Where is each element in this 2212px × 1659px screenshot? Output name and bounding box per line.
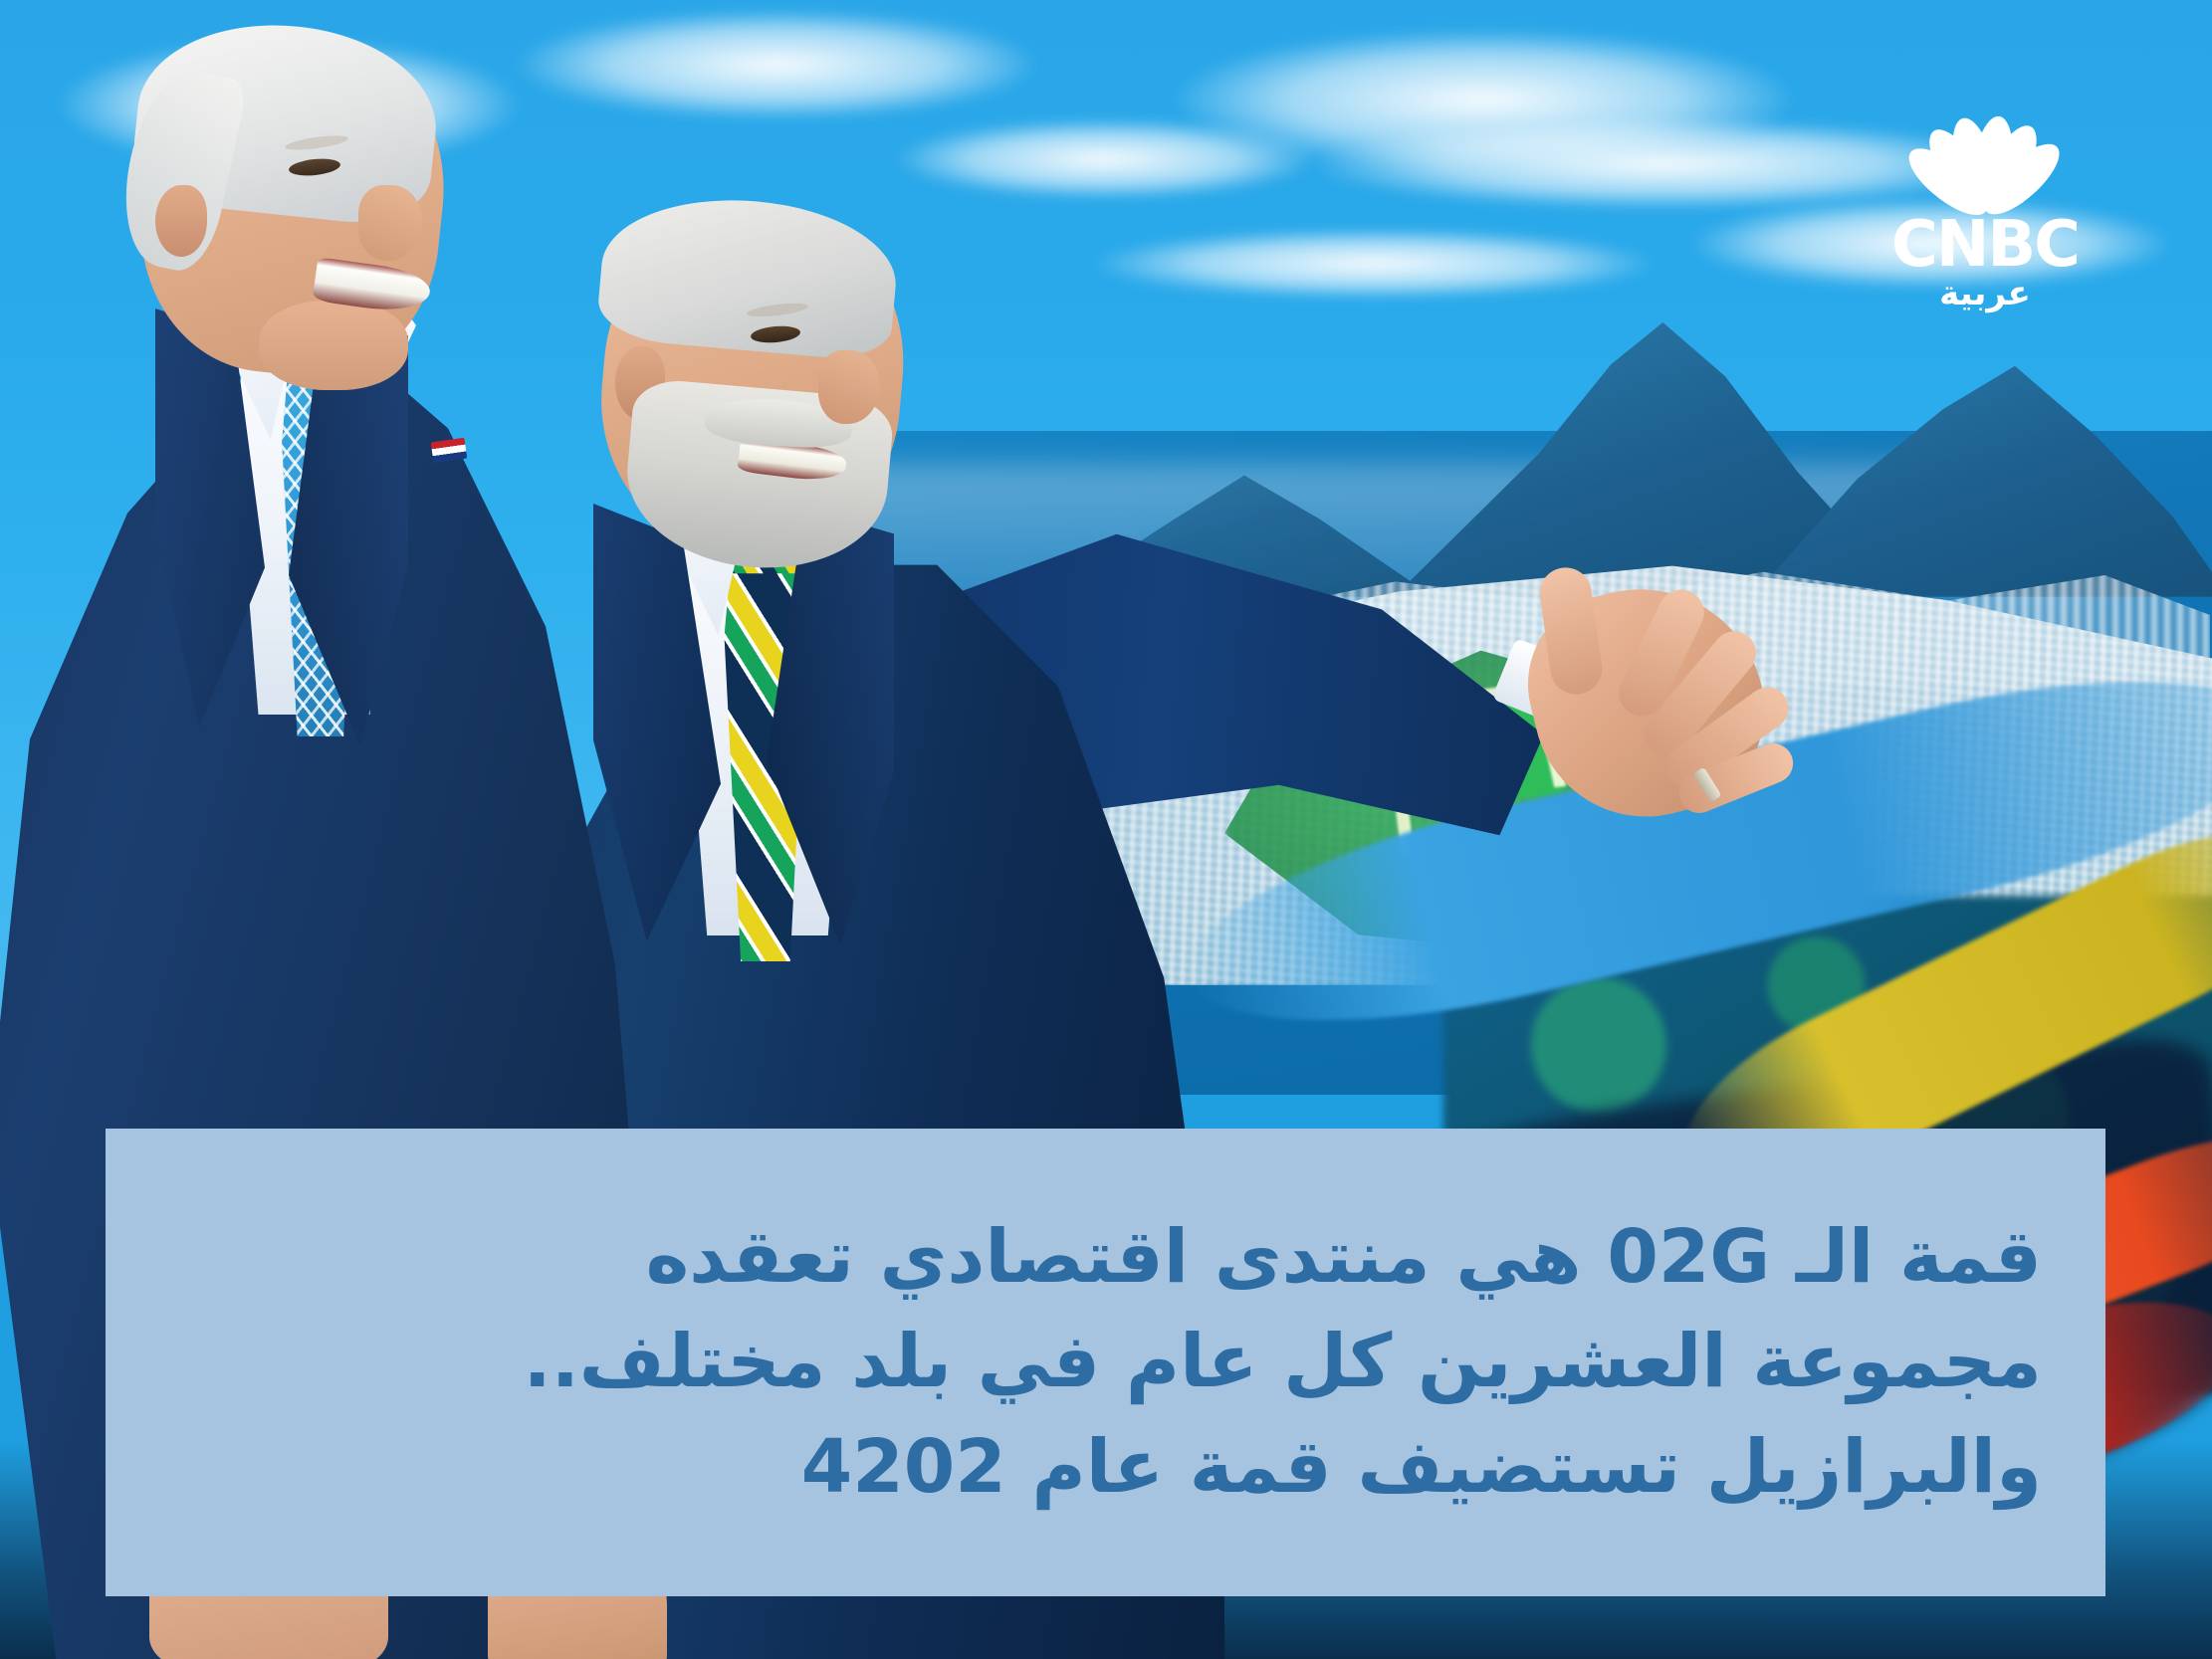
cnbc-arabic-wordmark: عربية	[1870, 277, 2101, 311]
caption-line-3: والبرازيل تستضيف قمة عام 2024	[169, 1415, 2042, 1520]
caption-bar: قمة الـ G20 هي منتدى اقتصادي تعقده مجموع…	[106, 1129, 2105, 1596]
cnbc-arabia-logo: CNBC عربية	[1870, 105, 2101, 316]
cnbc-wordmark: CNBC	[1870, 213, 2101, 277]
caption-line-2: مجموعة العشرين كل عام في بلد مختلف..	[169, 1310, 2042, 1414]
news-graphic-canvas: CNBC عربية قمة الـ G20 هي منتدى اقتصادي …	[0, 0, 2212, 1659]
chin	[259, 301, 408, 390]
caption-line-1: قمة الـ G20 هي منتدى اقتصادي تعقده	[169, 1205, 2042, 1310]
peacock-icon	[1895, 105, 2077, 211]
ear	[155, 185, 207, 257]
